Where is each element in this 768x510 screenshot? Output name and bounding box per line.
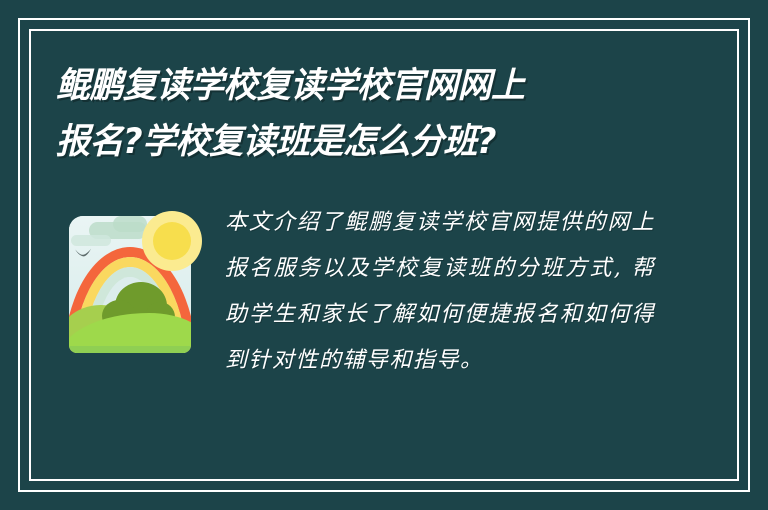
poster-container: 鲲鹏复读学校复读学校官网网上 报名?学校复读班是怎么分班? <box>0 0 768 510</box>
title-line-2: 报名?学校复读班是怎么分班? <box>56 114 677 170</box>
page-title: 鲲鹏复读学校复读学校官网网上 报名?学校复读班是怎么分班? <box>56 58 696 170</box>
sun-icon <box>141 210 203 272</box>
body-paragraph: 本文介绍了鲲鹏复读学校官网提供的网上报名服务以及学校复读班的分班方式, 帮助学生… <box>225 200 655 384</box>
cloud-icon <box>71 235 111 246</box>
ground-strip <box>69 346 191 353</box>
content-row: 本文介绍了鲲鹏复读学校官网提供的网上报名服务以及学校复读班的分班方式, 帮助学生… <box>56 200 712 384</box>
title-line-1: 鲲鹏复读学校复读学校官网网上 <box>56 58 677 114</box>
rainbow-landscape-illustration <box>63 212 199 360</box>
